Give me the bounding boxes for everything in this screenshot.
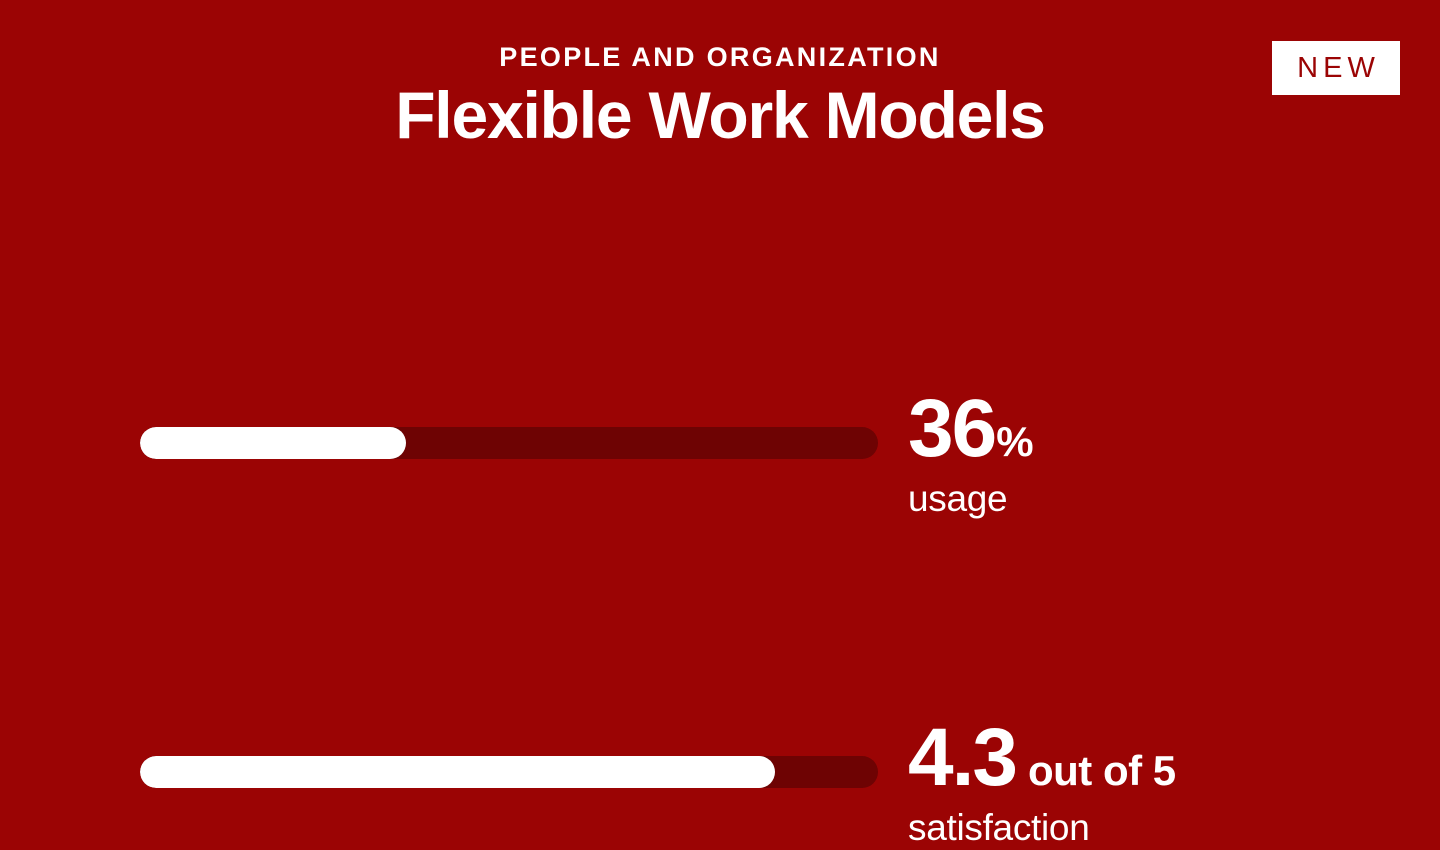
stats-group: 36 % usage 4.3 out of 5 satisfaction	[0, 388, 1440, 718]
new-badge: NEW	[1272, 41, 1400, 95]
stat-value-line-usage: 36 %	[908, 388, 1033, 470]
stat-value-line-satisfaction: 4.3 out of 5	[908, 717, 1176, 799]
stat-unit-usage: %	[996, 421, 1033, 463]
new-badge-label: NEW	[1292, 54, 1380, 83]
stat-row-satisfaction: 4.3 out of 5 satisfaction	[0, 553, 1440, 718]
header: PEOPLE AND ORGANIZATION Flexible Work Mo…	[0, 0, 1440, 153]
stat-label-satisfaction: satisfaction	[908, 807, 1176, 850]
stat-unit-satisfaction: out of 5	[1028, 750, 1176, 792]
progress-track-satisfaction	[140, 756, 878, 788]
progress-track-usage	[140, 427, 878, 459]
stat-value-usage: 36	[908, 388, 995, 470]
eyebrow-label: PEOPLE AND ORGANIZATION	[0, 42, 1440, 73]
progress-fill-satisfaction	[140, 756, 775, 788]
stat-text-satisfaction: 4.3 out of 5 satisfaction	[908, 717, 1176, 850]
stat-row-usage: 36 % usage	[0, 388, 1440, 553]
stat-label-usage: usage	[908, 478, 1033, 521]
page-title: Flexible Work Models	[0, 79, 1440, 153]
slide-canvas: PEOPLE AND ORGANIZATION Flexible Work Mo…	[0, 0, 1440, 810]
progress-fill-usage	[140, 427, 406, 459]
stat-text-usage: 36 % usage	[908, 388, 1033, 521]
stat-value-satisfaction: 4.3	[908, 717, 1016, 799]
